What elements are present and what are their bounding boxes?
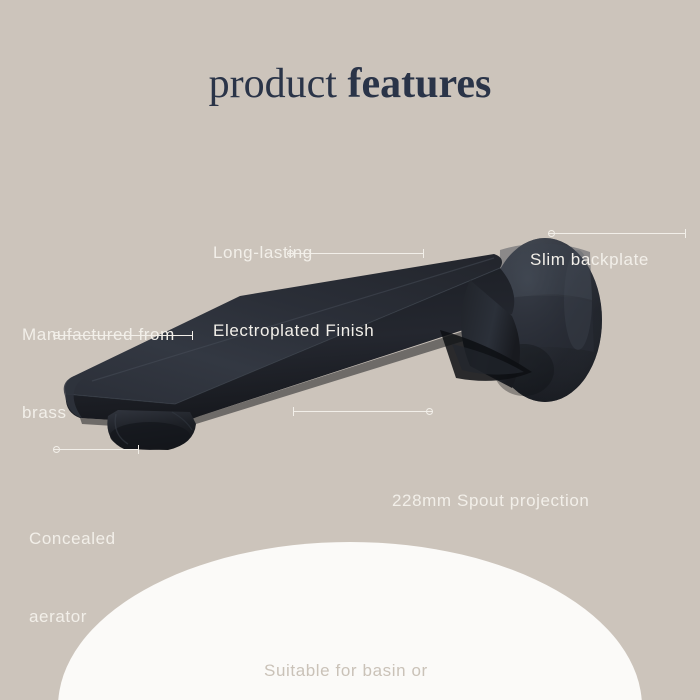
page-title-light: product — [209, 61, 348, 107]
leader-line-concealed-aerator — [53, 445, 139, 454]
footer-caption: Suitable for basin or bath applications — [264, 606, 428, 700]
product-features-infographic: product features Long-lasting Electropla… — [0, 0, 700, 700]
leader-line-slim-backplate — [548, 229, 686, 238]
page-title: product features — [0, 58, 700, 110]
leader-endpoint-dot — [53, 332, 60, 339]
page-title-bold: features — [347, 61, 491, 107]
leader-endpoint-tick — [423, 249, 424, 258]
leader-endpoint-dot — [53, 446, 60, 453]
leader-endpoint-dot — [548, 230, 555, 237]
feature-label-line1: 228mm Spout projection — [392, 488, 589, 514]
feature-label-line2: brass — [22, 400, 175, 426]
feature-label-line1: Concealed — [29, 526, 116, 552]
leader-endpoint-dot — [426, 408, 433, 415]
feature-label-line2: Electroplated Finish — [213, 318, 374, 344]
leader-endpoint-tick — [138, 445, 139, 454]
leader-endpoint-tick — [685, 229, 686, 238]
leader-endpoint-tick — [293, 407, 294, 416]
leader-endpoint-dot — [287, 250, 294, 257]
feature-label-slim-backplate: Slim backplate — [530, 195, 649, 325]
feature-label-line1: Slim backplate — [530, 247, 649, 273]
leader-rule — [53, 335, 193, 336]
leader-rule — [53, 449, 139, 450]
leader-endpoint-tick — [192, 331, 193, 340]
feature-label-concealed-aerator: Concealed aerator — [29, 474, 116, 682]
footer-caption-line1: Suitable for basin or — [264, 658, 428, 684]
feature-label-spout-projection: 228mm Spout projection — [392, 436, 589, 566]
leader-line-spout-projection — [293, 407, 433, 416]
leader-rule — [293, 411, 433, 412]
leader-line-brass-material — [53, 331, 193, 340]
leader-line-electroplated-finish — [287, 249, 424, 258]
feature-label-line2: aerator — [29, 604, 116, 630]
feature-label-electroplated-finish: Long-lasting Electroplated Finish — [213, 188, 374, 396]
leader-rule — [548, 233, 686, 234]
leader-rule — [287, 253, 424, 254]
